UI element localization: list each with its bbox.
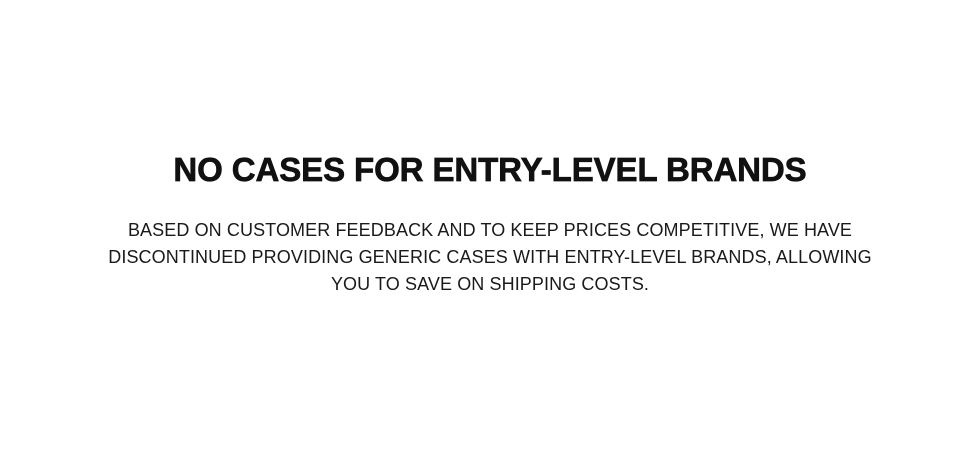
notice-section: NO CASES FOR ENTRY-LEVEL BRANDS BASED ON… xyxy=(0,0,980,450)
notice-content: NO CASES FOR ENTRY-LEVEL BRANDS BASED ON… xyxy=(0,0,980,298)
notice-description: BASED ON CUSTOMER FEEDBACK AND TO KEEP P… xyxy=(90,190,890,298)
page-title: NO CASES FOR ENTRY-LEVEL BRANDS xyxy=(0,150,980,190)
